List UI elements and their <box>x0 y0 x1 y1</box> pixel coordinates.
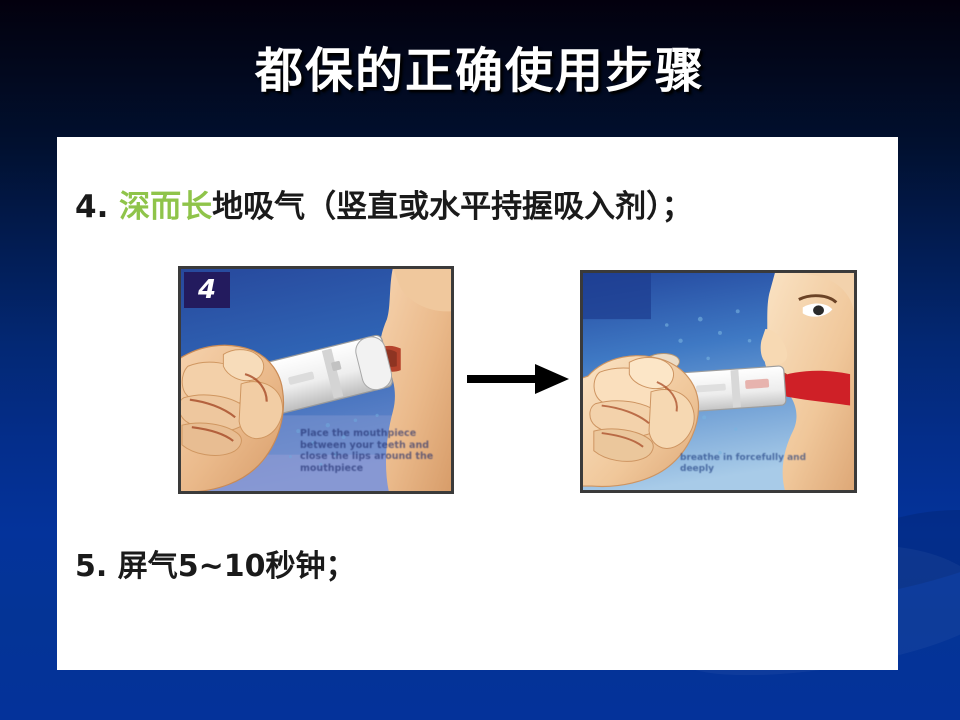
figure-step-badge: 4 <box>184 272 230 308</box>
page-title: 都保的正确使用步骤 <box>0 46 960 96</box>
step-4-number: 4. <box>75 189 108 225</box>
step-5-rest: 屏气5~10秒钟； <box>118 549 356 584</box>
content-card: 4. 深而长地吸气（竖直或水平持握吸入剂）； <box>57 137 898 670</box>
flow-arrow <box>465 358 573 400</box>
step-4-rest: 地吸气（竖直或水平持握吸入剂）； <box>212 189 693 225</box>
figure-2-caption: breathe in forcefully and deeply <box>680 453 830 475</box>
figure-group: 4 Place the mouthpiece between your teet… <box>57 259 898 499</box>
step-4-highlight: 深而长 <box>119 189 212 225</box>
step-5-text: 5. 屏气5~10秒钟； <box>75 541 356 585</box>
figure-step-4: 4 Place the mouthpiece between your teet… <box>178 266 454 494</box>
step-4-text: 4. 深而长地吸气（竖直或水平持握吸入剂）； <box>75 181 693 226</box>
figure-step-5: breathe in forcefully and deeply <box>580 270 857 493</box>
slide: 都保的正确使用步骤 4. 深而长地吸气（竖直或水平持握吸入剂）； <box>0 0 960 720</box>
figure-1-caption: Place the mouthpiece between your teeth … <box>300 428 450 474</box>
arrow-right-icon <box>465 358 573 400</box>
step-5-number: 5. <box>75 549 107 584</box>
